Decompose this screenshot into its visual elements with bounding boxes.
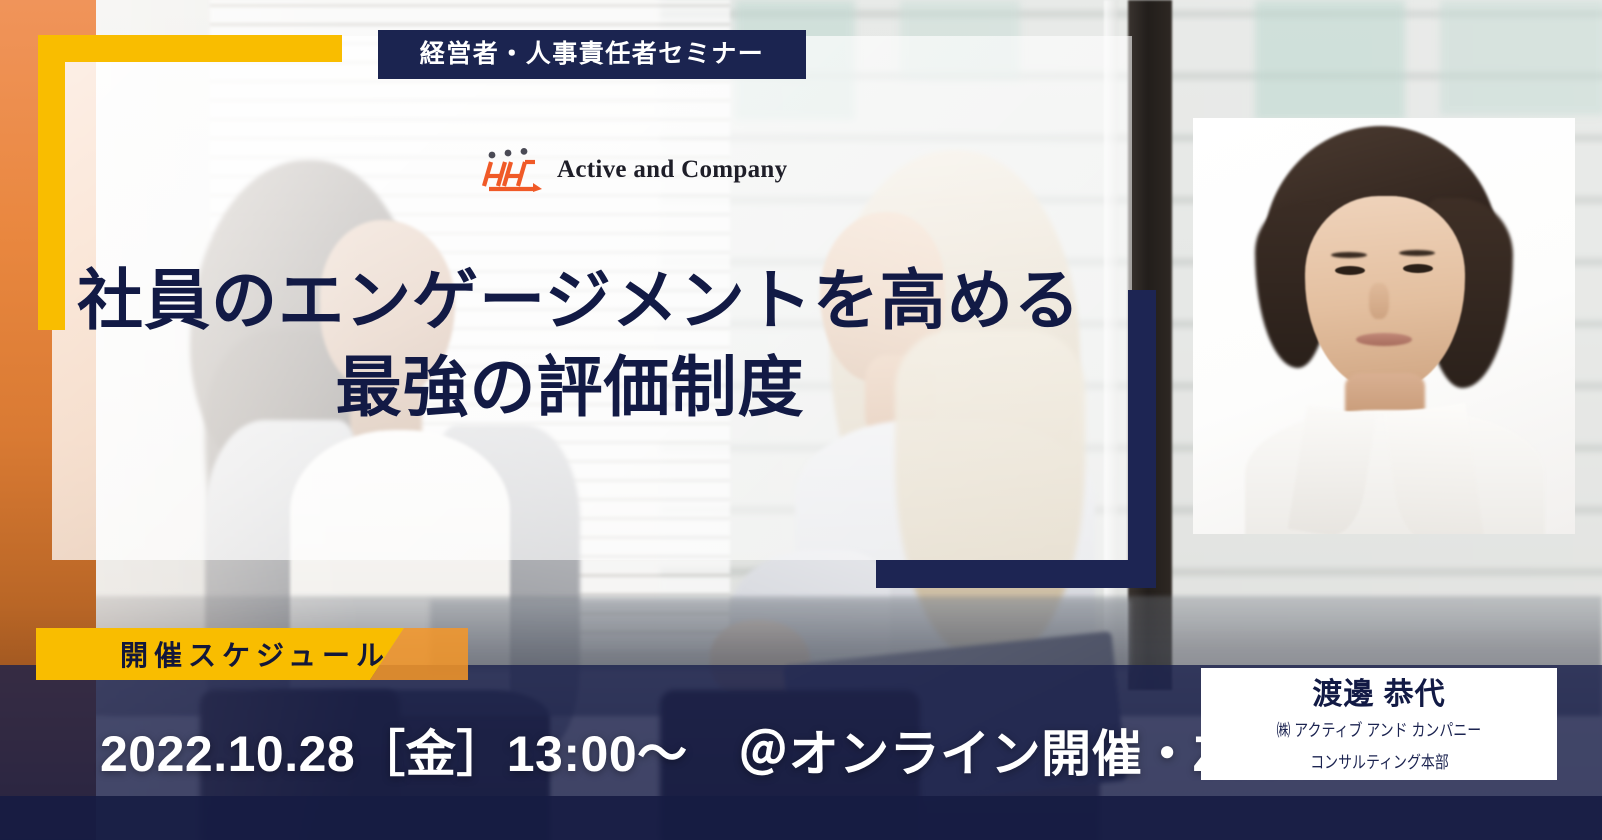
seminar-banner: 経営者・人事責任者セミナー Active (0, 0, 1602, 840)
speaker-info-box: 渡邊 恭代 ㈱ アクティブ アンド カンパニー コンサルティング本部 (1201, 668, 1557, 780)
speaker-department: コンサルティング本部 (1310, 752, 1449, 775)
company-logo-text: Active and Company (557, 156, 787, 184)
active-and-company-logo-mark-icon (478, 148, 544, 192)
window-glass-pane (1255, 0, 1405, 120)
seminar-audience-tag-label: 経営者・人事責任者セミナー (420, 42, 765, 67)
seminar-audience-tag: 経営者・人事責任者セミナー (378, 30, 806, 79)
speaker-photo (1193, 118, 1575, 534)
bottom-navy-overlay-dark (0, 796, 1602, 840)
schedule-badge: 開催スケジュール (36, 628, 468, 680)
company-logo: Active and Company (478, 148, 787, 192)
title-line-1: 社員のエンゲージメントを高める (0, 262, 1140, 339)
page-title: 社員のエンゲージメントを高める 最強の評価制度 (0, 262, 1140, 425)
speaker-company: ㈱ アクティブ アンド カンパニー (1277, 720, 1482, 743)
speaker-name: 渡邊 恭代 (1312, 678, 1445, 711)
title-line-2: 最強の評価制度 (0, 349, 1140, 426)
schedule-date-line: 2022.10.28［金］13:00〜 ＠オンライン開催・Zoom (100, 714, 1331, 786)
window-glass-pane (1440, 0, 1602, 115)
schedule-badge-label: 開催スケジュール (36, 628, 468, 680)
